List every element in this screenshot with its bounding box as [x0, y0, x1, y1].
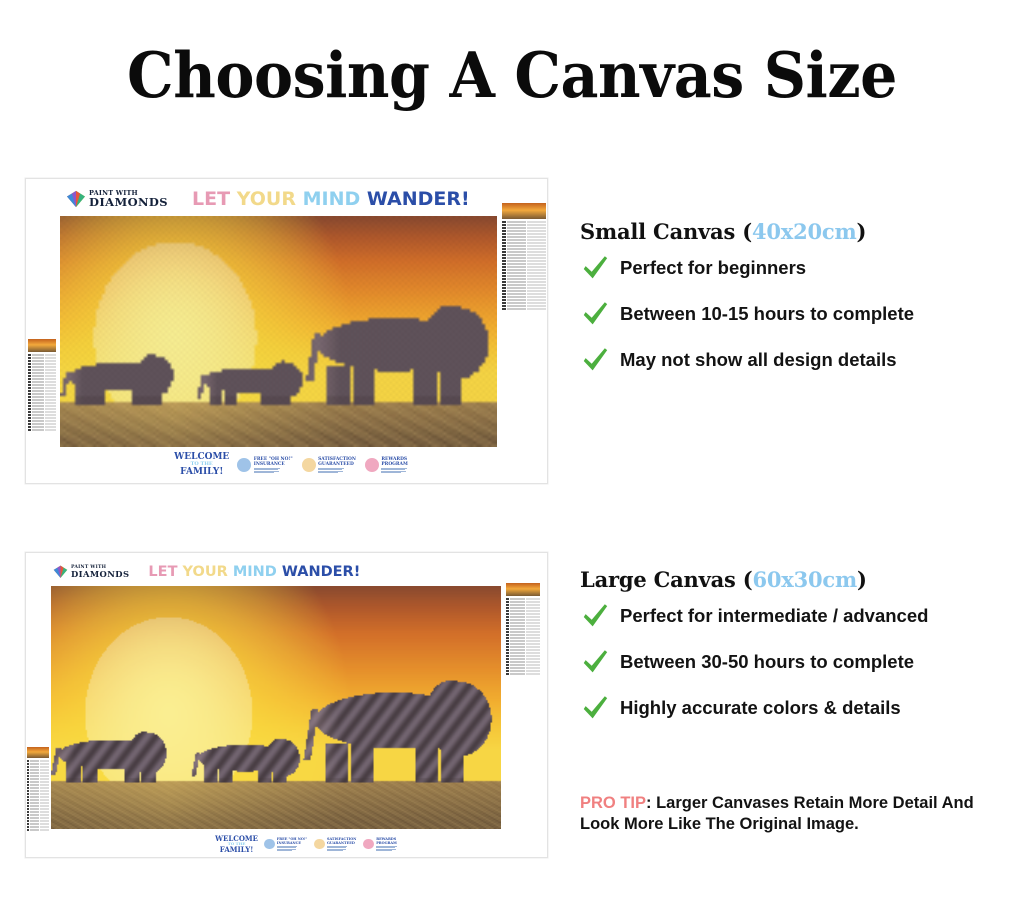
legend-row	[502, 278, 546, 280]
legend-row	[27, 808, 49, 810]
green-checkmark-icon	[580, 693, 610, 723]
small-canvas-heading-close: )	[857, 219, 867, 244]
legend-row	[28, 354, 56, 356]
legend-row	[27, 799, 49, 801]
legend-row	[506, 631, 540, 633]
legend-row	[28, 393, 56, 395]
badge-title-line-2: INSURANCE	[277, 841, 307, 845]
legend-color-rows	[28, 352, 56, 431]
badge-title-line-2: INSURANCE	[254, 462, 293, 467]
trust-badge: SATISFACTIONGUARANTEED	[302, 457, 356, 473]
legend-row	[502, 224, 546, 226]
legend-row	[27, 793, 49, 795]
legend-row	[27, 763, 49, 765]
diamond-gem-icon	[66, 190, 86, 208]
legend-row	[27, 778, 49, 780]
legend-row	[27, 787, 49, 789]
badge-description-lines	[327, 846, 356, 851]
tagline-word-wander: WANDER!	[282, 564, 360, 580]
bullet-item: Between 30-50 hours to complete	[580, 647, 1020, 677]
badge-description-lines	[381, 468, 407, 473]
legend-row	[506, 649, 540, 651]
tagline-word-mind: MIND	[233, 564, 277, 580]
legend-row	[502, 269, 546, 271]
legend-row	[506, 646, 540, 648]
legend-row	[506, 655, 540, 657]
legend-row	[506, 667, 540, 669]
footer-badges-small: WELCOME TO THE FAMILY! FREE "OH NO!"INSU…	[126, 451, 456, 479]
legend-row	[27, 796, 49, 798]
small-canvas-info-panel: Small Canvas (40x20cm) Perfect for begin…	[580, 219, 1010, 375]
page-title: Choosing A Canvas Size	[36, 38, 988, 112]
green-checkmark-icon	[580, 253, 610, 283]
legend-row	[28, 426, 56, 428]
badge-description-lines	[318, 468, 356, 473]
legend-row	[502, 299, 546, 301]
legend-row	[28, 405, 56, 407]
legend-row	[502, 290, 546, 292]
tagline-word-mind: MIND	[303, 188, 361, 210]
legend-row	[506, 625, 540, 627]
legend-row	[506, 598, 540, 600]
legend-row	[28, 399, 56, 401]
legend-row	[502, 227, 546, 229]
green-checkmark-icon	[580, 601, 610, 631]
tagline-word-wander: WANDER!	[367, 188, 470, 210]
badge-title-line-2: GUARANTEED	[318, 462, 356, 467]
legend-row	[28, 375, 56, 377]
bullet-text: Between 10-15 hours to complete	[620, 303, 914, 325]
legend-row	[28, 366, 56, 368]
guarantee-icon	[302, 458, 316, 472]
legend-row	[506, 673, 540, 675]
legend-row	[28, 390, 56, 392]
small-canvas-dimensions: 40x20cm	[752, 219, 857, 244]
badge-description-lines	[376, 846, 397, 851]
legend-row	[506, 664, 540, 666]
legend-row	[27, 784, 49, 786]
legend-row	[28, 372, 56, 374]
legend-row	[506, 661, 540, 663]
legend-row	[27, 790, 49, 792]
legend-row	[28, 420, 56, 422]
legend-row	[506, 628, 540, 630]
rewards-icon	[363, 839, 374, 850]
legend-row	[28, 423, 56, 425]
insurance-icon	[237, 458, 251, 472]
legend-row	[502, 239, 546, 241]
legend-row	[27, 823, 49, 825]
legend-row	[506, 613, 540, 615]
badge-list: FREE "OH NO!"INSURANCESATISFACTIONGUARAN…	[237, 457, 408, 473]
legend-color-rows	[502, 219, 546, 310]
insurance-icon	[264, 839, 275, 850]
legend-row	[502, 257, 546, 259]
legend-strip-left-small	[28, 339, 56, 449]
legend-thumbnail	[27, 747, 49, 758]
small-canvas-product-image: PAINT WITH DIAMONDS LET YOUR MIND WANDER…	[25, 178, 548, 484]
legend-color-rows	[506, 596, 540, 675]
legend-row	[27, 820, 49, 822]
bullet-text: Highly accurate colors & details	[620, 697, 901, 719]
badge-title-line-2: PROGRAM	[381, 462, 407, 467]
trust-badge: FREE "OH NO!"INSURANCE	[237, 457, 292, 473]
legend-row	[506, 652, 540, 654]
legend-row	[27, 829, 49, 831]
legend-row	[502, 245, 546, 247]
legend-strip-right-large	[506, 583, 540, 823]
legend-row	[27, 802, 49, 804]
legend-row	[502, 233, 546, 235]
legend-row	[506, 616, 540, 618]
bullet-text: Between 30-50 hours to complete	[620, 651, 914, 673]
legend-row	[506, 619, 540, 621]
bullet-item: Between 10-15 hours to complete	[580, 299, 1010, 329]
small-canvas-bullet-list: Perfect for beginnersBetween 10-15 hours…	[580, 253, 1010, 375]
bullet-text: May not show all design details	[620, 349, 897, 371]
badge-list: FREE "OH NO!"INSURANCESATISFACTIONGUARAN…	[264, 837, 397, 851]
legend-row	[28, 396, 56, 398]
badge-title-line-2: PROGRAM	[376, 841, 397, 845]
badge-description-lines	[254, 468, 293, 473]
legend-row	[502, 272, 546, 274]
legend-row	[28, 408, 56, 410]
legend-row	[506, 658, 540, 660]
small-canvas-heading: Small Canvas (40x20cm)	[580, 219, 1010, 244]
large-canvas-heading-label: Large Canvas (	[580, 567, 752, 592]
welcome-to-the-family: WELCOME TO THE FAMILY!	[215, 835, 258, 854]
legend-row	[27, 817, 49, 819]
legend-row	[502, 308, 546, 310]
legend-row	[28, 369, 56, 371]
pixel-artwork-large	[51, 586, 501, 829]
legend-row	[506, 610, 540, 612]
bullet-item: Highly accurate colors & details	[580, 693, 1020, 723]
legend-row	[506, 607, 540, 609]
badge-title-line-2: GUARANTEED	[327, 841, 356, 845]
logo-diamonds: DIAMONDS	[71, 570, 129, 578]
pro-tip-note: PRO TIP: Larger Canvases Retain More Det…	[580, 793, 1010, 836]
rewards-icon	[365, 458, 379, 472]
legend-row	[27, 811, 49, 813]
logo-diamonds: DIAMONDS	[89, 197, 168, 209]
trust-badge: SATISFACTIONGUARANTEED	[314, 837, 356, 851]
brand-header-large: PAINT WITH DIAMONDS LET YOUR MIND WANDER…	[53, 563, 574, 581]
large-canvas-heading: Large Canvas (60x30cm)	[580, 567, 1020, 592]
tagline-large: LET YOUR MIND WANDER!	[148, 564, 360, 580]
legend-row	[502, 236, 546, 238]
legend-row	[502, 287, 546, 289]
diamond-gem-icon	[53, 565, 68, 579]
large-canvas-product-image: PAINT WITH DIAMONDS LET YOUR MIND WANDER…	[25, 552, 548, 858]
legend-row	[506, 601, 540, 603]
legend-row	[502, 296, 546, 298]
legend-row	[28, 381, 56, 383]
legend-row	[27, 760, 49, 762]
legend-row	[27, 772, 49, 774]
legend-thumbnail	[502, 203, 546, 219]
paint-with-diamonds-logo: PAINT WITH DIAMONDS	[53, 565, 129, 579]
tagline-word-your: YOUR	[183, 564, 228, 580]
pro-tip-label: PRO TIP	[580, 794, 646, 812]
legend-row	[502, 293, 546, 295]
green-checkmark-icon	[580, 299, 610, 329]
tagline-small: LET YOUR MIND WANDER!	[192, 188, 470, 210]
legend-strip-left-large	[27, 747, 49, 845]
trust-badge: FREE "OH NO!"INSURANCE	[264, 837, 307, 851]
legend-row	[502, 305, 546, 307]
legend-row	[27, 766, 49, 768]
legend-thumbnail	[506, 583, 540, 596]
legend-row	[502, 254, 546, 256]
green-checkmark-icon	[580, 345, 610, 375]
legend-row	[502, 221, 546, 223]
welcome-line-3: FAMILY!	[220, 846, 254, 853]
legend-row	[502, 242, 546, 244]
legend-row	[28, 414, 56, 416]
small-canvas-heading-label: Small Canvas (	[580, 219, 752, 244]
welcome-to-the-family: WELCOME TO THE FAMILY!	[174, 453, 229, 477]
large-canvas-bullet-list: Perfect for intermediate / advancedBetwe…	[580, 601, 1020, 723]
bullet-text: Perfect for intermediate / advanced	[620, 605, 928, 627]
legend-row	[28, 402, 56, 404]
legend-row	[506, 622, 540, 624]
legend-row	[506, 637, 540, 639]
trust-badge: REWARDSPROGRAM	[363, 837, 396, 851]
legend-row	[28, 429, 56, 431]
legend-row	[506, 634, 540, 636]
legend-row	[502, 251, 546, 253]
bullet-item: May not show all design details	[580, 345, 1010, 375]
guarantee-icon	[314, 839, 325, 850]
canvas-size-infographic: Choosing A Canvas Size PAINT WITH DIAMON…	[0, 0, 1024, 923]
legend-row	[502, 284, 546, 286]
legend-color-rows	[27, 758, 49, 831]
bullet-item: Perfect for intermediate / advanced	[580, 601, 1020, 631]
large-canvas-heading-close: )	[857, 567, 867, 592]
legend-row	[27, 805, 49, 807]
legend-row	[502, 248, 546, 250]
legend-row	[28, 387, 56, 389]
legend-row	[506, 640, 540, 642]
footer-badges-large: WELCOME TO THE FAMILY! FREE "OH NO!"INSU…	[176, 833, 436, 855]
bullet-item: Perfect for beginners	[580, 253, 1010, 283]
legend-row	[28, 378, 56, 380]
trust-badge: REWARDSPROGRAM	[365, 457, 408, 473]
legend-row	[502, 275, 546, 277]
legend-row	[502, 260, 546, 262]
legend-row	[502, 263, 546, 265]
bullet-text: Perfect for beginners	[620, 257, 806, 279]
legend-row	[28, 357, 56, 359]
tagline-word-your: YOUR	[237, 188, 296, 210]
tagline-word-let: LET	[148, 564, 177, 580]
legend-row	[502, 266, 546, 268]
legend-row	[27, 781, 49, 783]
legend-row	[28, 411, 56, 413]
green-checkmark-icon	[580, 647, 610, 677]
large-canvas-dimensions: 60x30cm	[752, 567, 857, 592]
legend-row	[27, 826, 49, 828]
welcome-line-3: FAMILY!	[180, 468, 223, 477]
large-canvas-info-panel: Large Canvas (60x30cm) Perfect for inter…	[580, 567, 1020, 723]
legend-row	[27, 814, 49, 816]
legend-row	[28, 360, 56, 362]
legend-row	[502, 302, 546, 304]
legend-row	[506, 643, 540, 645]
paint-with-diamonds-logo: PAINT WITH DIAMONDS	[66, 190, 168, 208]
tagline-word-let: LET	[192, 188, 230, 210]
legend-row	[502, 230, 546, 232]
legend-row	[27, 769, 49, 771]
legend-row	[27, 775, 49, 777]
legend-row	[28, 417, 56, 419]
legend-thumbnail	[28, 339, 56, 352]
badge-description-lines	[277, 846, 307, 851]
legend-row	[506, 670, 540, 672]
pixel-artwork-small	[60, 216, 497, 447]
legend-row	[506, 604, 540, 606]
legend-row	[28, 363, 56, 365]
legend-strip-right-small	[502, 203, 546, 448]
legend-row	[28, 384, 56, 386]
legend-row	[502, 281, 546, 283]
